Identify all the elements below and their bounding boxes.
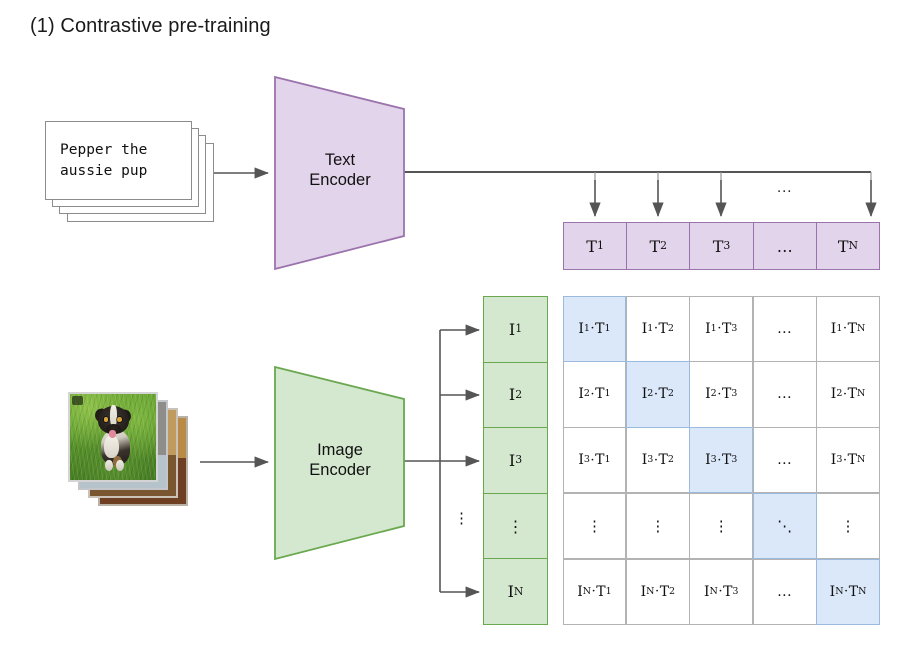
text-embedding-cell: T2 — [626, 222, 690, 270]
text-embedding-cell: T1 — [563, 222, 627, 270]
similarity-cell: ... — [753, 296, 817, 362]
similarity-matrix: I1·T1I1·T2I1·T3...I1·TNI2·T1I2·T2I2·T3..… — [563, 296, 880, 625]
image-embedding-cell: ⋮ — [483, 493, 548, 560]
image-input-stack — [68, 392, 198, 502]
similarity-cell: I1·T2 — [626, 296, 690, 362]
image-embedding-cell: IN — [483, 558, 548, 625]
image-branch-ellipsis: ⋮ — [454, 509, 469, 527]
similarity-cell: ⋮ — [563, 493, 627, 559]
similarity-cell: ... — [753, 427, 817, 493]
similarity-cell: I2·T3 — [689, 361, 753, 427]
text-bus-ellipsis: ... — [777, 181, 792, 196]
similarity-cell: IN·T1 — [563, 559, 627, 625]
similarity-cell: I2·T2 — [626, 361, 690, 427]
similarity-cell: ⋮ — [689, 493, 753, 559]
image-embedding-cell: I2 — [483, 362, 548, 429]
image-encoder-shape[interactable] — [274, 366, 406, 560]
diagram-canvas: (1) Contrastive pre-training — [0, 0, 906, 654]
image-embedding-cell: I3 — [483, 427, 548, 494]
similarity-cell: ⋮ — [816, 493, 880, 559]
photo-front-dog — [68, 392, 158, 482]
image-embedding-cell: I1 — [483, 296, 548, 363]
similarity-cell: I1·TN — [816, 296, 880, 362]
similarity-cell: ⋮ — [626, 493, 690, 559]
text-card-front: Pepper the aussie pup — [45, 121, 192, 200]
similarity-cell: I3·T1 — [563, 427, 627, 493]
similarity-cell: I1·T1 — [563, 296, 627, 362]
similarity-cell: I2·T1 — [563, 361, 627, 427]
similarity-cell: IN·T2 — [626, 559, 690, 625]
similarity-cell: I3·T2 — [626, 427, 690, 493]
text-embedding-cell: T3 — [689, 222, 753, 270]
similarity-cell: IN·TN — [816, 559, 880, 625]
text-encoder-shape[interactable] — [274, 76, 406, 270]
similarity-cell: ... — [753, 559, 817, 625]
text-input-stack: Pepper the aussie pup — [45, 121, 215, 221]
similarity-cell: I3·T3 — [689, 427, 753, 493]
similarity-cell: IN·T3 — [689, 559, 753, 625]
similarity-cell: ⋱ — [753, 493, 817, 559]
image-embedding-column: I1I2I3⋮IN — [483, 296, 548, 625]
similarity-cell: ... — [753, 361, 817, 427]
text-card-caption: Pepper the aussie pup — [60, 140, 182, 182]
similarity-cell: I3·TN — [816, 427, 880, 493]
similarity-cell: I1·T3 — [689, 296, 753, 362]
text-embedding-row: T1T2T3…TN — [563, 222, 880, 270]
text-embedding-cell: … — [753, 222, 817, 270]
similarity-cell: I2·TN — [816, 361, 880, 427]
text-embedding-cell: TN — [816, 222, 880, 270]
